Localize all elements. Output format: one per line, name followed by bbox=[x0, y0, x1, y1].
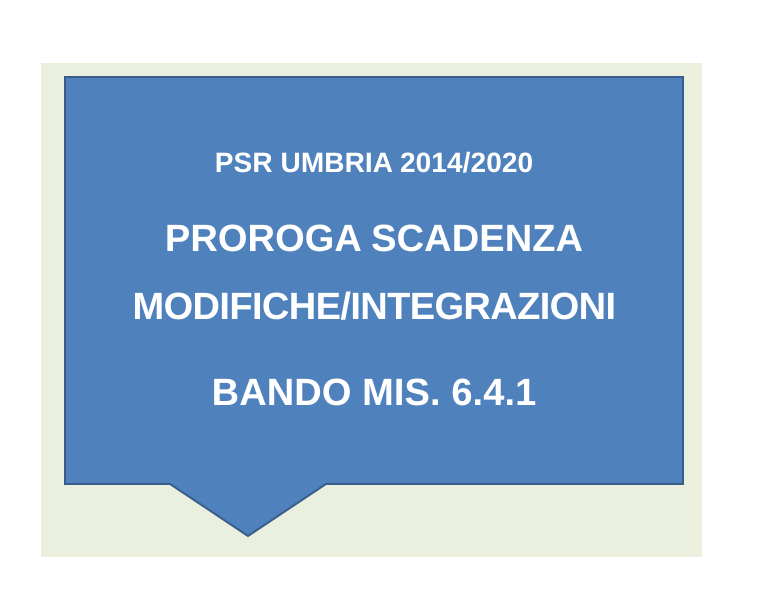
speech-bubble-path bbox=[65, 77, 683, 536]
speech-bubble-svg bbox=[64, 76, 684, 540]
slide-canvas: PSR UMBRIA 2014/2020 PROROGA SCADENZA MO… bbox=[0, 0, 768, 614]
blue-speech-bubble-shape bbox=[64, 76, 684, 540]
